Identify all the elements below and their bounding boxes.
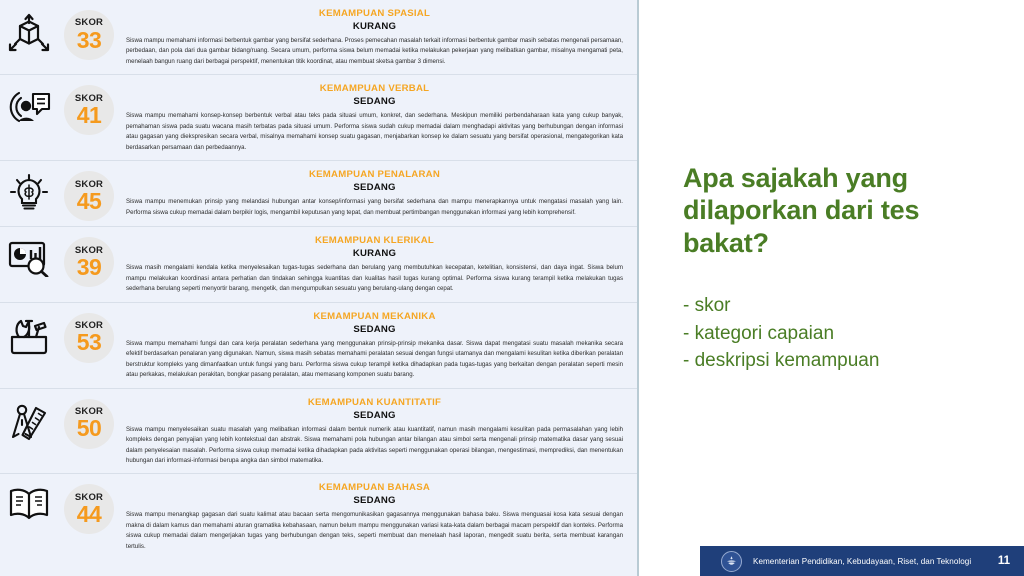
- capability-title: KEMAMPUAN KLERIKAL: [126, 235, 623, 246]
- score-cell: SKOR 39: [58, 233, 120, 287]
- score-cell: SKOR 50: [58, 395, 120, 449]
- footer-bar: Kementerian Pendidikan, Kebudayaan, Rise…: [700, 546, 1024, 576]
- report-text-cell: KEMAMPUAN VERBAL SEDANG Siswa mampu mema…: [120, 81, 637, 155]
- open-book-icon: [0, 480, 58, 522]
- report-row: SKOR 45 KEMAMPUAN PENALARAN SEDANG Siswa…: [0, 161, 637, 227]
- list-item: - kategori capaian: [683, 320, 1013, 348]
- ministry-seal-icon: [721, 551, 742, 572]
- person-speech-bubble-icon: [0, 81, 58, 127]
- capability-title: KEMAMPUAN MEKANIKA: [126, 311, 623, 322]
- capability-level: KURANG: [126, 21, 623, 32]
- capability-description: Siswa mampu memahami konsep-konsep berbe…: [126, 111, 623, 153]
- list-item: - deskripsi kemampuan: [683, 347, 1013, 375]
- capability-level: SEDANG: [126, 410, 623, 421]
- report-text-cell: KEMAMPUAN BAHASA SEDANG Siswa mampu mena…: [120, 480, 637, 554]
- report-row: SKOR 33 KEMAMPUAN SPASIAL KURANG Siswa m…: [0, 0, 637, 75]
- cube-3d-axes-icon: [0, 6, 58, 54]
- capability-description: Siswa mampu menyelesaikan suatu masalah …: [126, 425, 623, 467]
- report-text-cell: KEMAMPUAN KLERIKAL KURANG Siswa masih me…: [120, 233, 637, 296]
- capability-title: KEMAMPUAN BAHASA: [126, 482, 623, 493]
- score-cell: SKOR 44: [58, 480, 120, 534]
- list-item: - skor: [683, 292, 1013, 320]
- score-cell: SKOR 41: [58, 81, 120, 135]
- capability-title: KEMAMPUAN PENALARAN: [126, 169, 623, 180]
- capability-title: KEMAMPUAN VERBAL: [126, 83, 623, 94]
- score-value: 41: [77, 104, 102, 127]
- report-row: SKOR 41 KEMAMPUAN VERBAL SEDANG Siswa ma…: [0, 75, 637, 161]
- lightbulb-brain-icon: [0, 167, 58, 213]
- score-badge: SKOR 44: [64, 484, 114, 534]
- score-value: 50: [77, 417, 102, 440]
- score-cell: SKOR 45: [58, 167, 120, 221]
- report-text-cell: KEMAMPUAN KUANTITATIF SEDANG Siswa mampu…: [120, 395, 637, 469]
- report-row: SKOR 53 KEMAMPUAN MEKANIKA SEDANG Siswa …: [0, 303, 637, 389]
- ministry-name: Kementerian Pendidikan, Kebudayaan, Rise…: [753, 557, 971, 566]
- compass-ruler-icon: [0, 395, 58, 441]
- report-text-cell: KEMAMPUAN PENALARAN SEDANG Siswa mampu m…: [120, 167, 637, 220]
- slide-canvas: MERDEKA BELAJAR BP3 BALAI PENGELOLAAN PE…: [0, 0, 1024, 576]
- capability-level: SEDANG: [126, 324, 623, 335]
- capability-title: KEMAMPUAN SPASIAL: [126, 8, 623, 19]
- score-value: 33: [77, 29, 102, 52]
- capability-level: SEDANG: [126, 96, 623, 107]
- toolbox-icon: [0, 309, 58, 355]
- score-badge: SKOR 41: [64, 85, 114, 135]
- aptitude-report-panel: SKOR 33 KEMAMPUAN SPASIAL KURANG Siswa m…: [0, 0, 639, 576]
- score-value: 53: [77, 331, 102, 354]
- report-text-cell: KEMAMPUAN MEKANIKA SEDANG Siswa mampu me…: [120, 309, 637, 383]
- score-badge: SKOR 53: [64, 313, 114, 363]
- score-value: 45: [77, 190, 102, 213]
- score-badge: SKOR 50: [64, 399, 114, 449]
- capability-level: SEDANG: [126, 495, 623, 506]
- score-badge: SKOR 33: [64, 10, 114, 60]
- capability-title: KEMAMPUAN KUANTITATIF: [126, 397, 623, 408]
- capability-description: Siswa masih mengalami kendala ketika men…: [126, 263, 623, 294]
- score-value: 39: [77, 256, 102, 279]
- capability-description: Siswa mampu menemukan prinsip yang melan…: [126, 197, 623, 218]
- capability-description: Siswa mampu menangkap gagasan dari suatu…: [126, 510, 623, 552]
- report-row: SKOR 44 KEMAMPUAN BAHASA SEDANG Siswa ma…: [0, 474, 637, 559]
- score-value: 44: [77, 503, 102, 526]
- capability-level: KURANG: [126, 248, 623, 259]
- score-cell: SKOR 33: [58, 6, 120, 60]
- score-badge: SKOR 39: [64, 237, 114, 287]
- score-badge: SKOR 45: [64, 171, 114, 221]
- bullet-list: - skor - kategori capaian - deskripsi ke…: [683, 292, 1013, 375]
- capability-level: SEDANG: [126, 182, 623, 193]
- page-title: Apa sajakah yang dilaporkan dari tes bak…: [683, 162, 983, 259]
- capability-description: Siswa mampu memahami informasi berbentuk…: [126, 36, 623, 67]
- capability-description: Siswa mampu memahami fungsi dan cara ker…: [126, 339, 623, 381]
- report-row: SKOR 39 KEMAMPUAN KLERIKAL KURANG Siswa …: [0, 227, 637, 302]
- report-row: SKOR 50 KEMAMPUAN KUANTITATIF SEDANG Sis…: [0, 389, 637, 475]
- chart-magnifier-icon: [0, 233, 58, 277]
- score-cell: SKOR 53: [58, 309, 120, 363]
- right-content-area: Apa sajakah yang dilaporkan dari tes bak…: [639, 0, 1024, 576]
- page-number: 11: [998, 555, 1010, 567]
- report-text-cell: KEMAMPUAN SPASIAL KURANG Siswa mampu mem…: [120, 6, 637, 69]
